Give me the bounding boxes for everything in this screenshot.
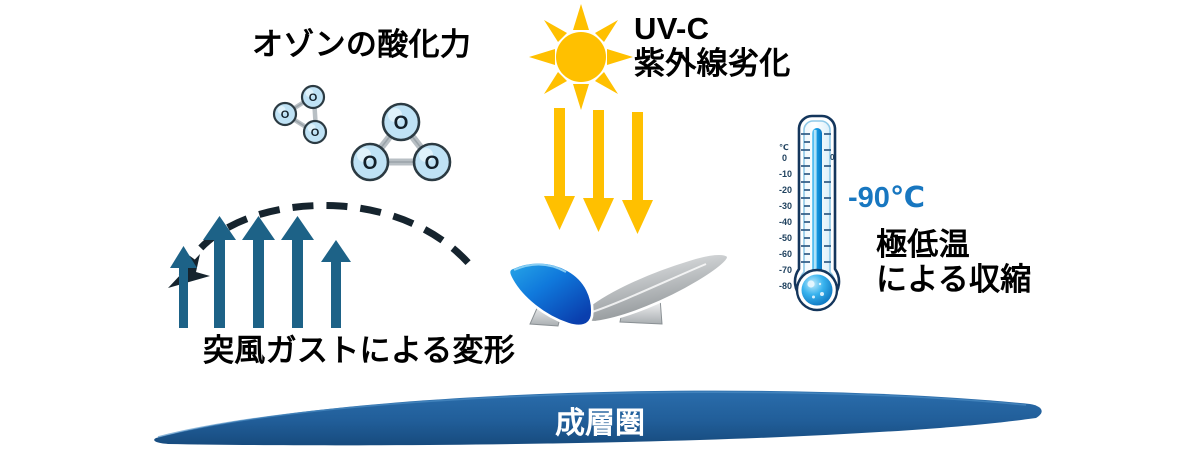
atom-label-o: O: [309, 92, 318, 104]
cryogenic-caption-line2: による収縮: [876, 262, 1032, 297]
stratosphere-band: 成層圏: [150, 382, 1050, 450]
wind-arrow: [281, 216, 314, 328]
aircraft-wing-left: [509, 262, 592, 326]
uv-arrow: [622, 112, 653, 234]
wind-arrow: [321, 240, 351, 328]
ozone-title: オゾンの酸化力: [252, 28, 471, 63]
atom-label-o: O: [394, 113, 409, 134]
uv-arrow: [544, 108, 575, 230]
uvc-title: UV-C 紫外線劣化: [634, 12, 791, 81]
cryogenic-caption: 極低温 による収縮: [876, 228, 1032, 297]
wind-arrow: [203, 216, 236, 328]
gust-arc: [182, 205, 476, 276]
gust-graphic: [160, 198, 490, 343]
atom-label-o: O: [363, 153, 378, 174]
gust-title: 突風ガストによる変形: [203, 334, 515, 369]
atom-label-o: O: [281, 109, 290, 121]
uv-radiation-arrows: [540, 108, 680, 243]
uvc-title-line2: 紫外線劣化: [634, 47, 791, 82]
sun-icon: [527, 2, 635, 117]
cryogenic-caption-line1: 極低温: [876, 227, 970, 262]
temperature-reading: -90℃: [848, 180, 925, 215]
uv-arrow: [583, 110, 614, 232]
diagram-canvas: オゾンの酸化力 O O O: [0, 0, 1200, 450]
atom-label-o: O: [425, 153, 440, 174]
thermometer-icon: ℃ 0 0 -10 -20 -30 -40 -50 -60 -70 -80: [778, 112, 850, 329]
atom-label-o: O: [311, 127, 320, 139]
uvc-title-line1: UV-C: [634, 11, 709, 46]
wind-arrow: [242, 216, 275, 328]
haps-solar-aircraft: [492, 240, 732, 345]
ozone-molecule-small: O O O: [268, 80, 340, 159]
ozone-molecule-large: O O O: [348, 96, 454, 193]
